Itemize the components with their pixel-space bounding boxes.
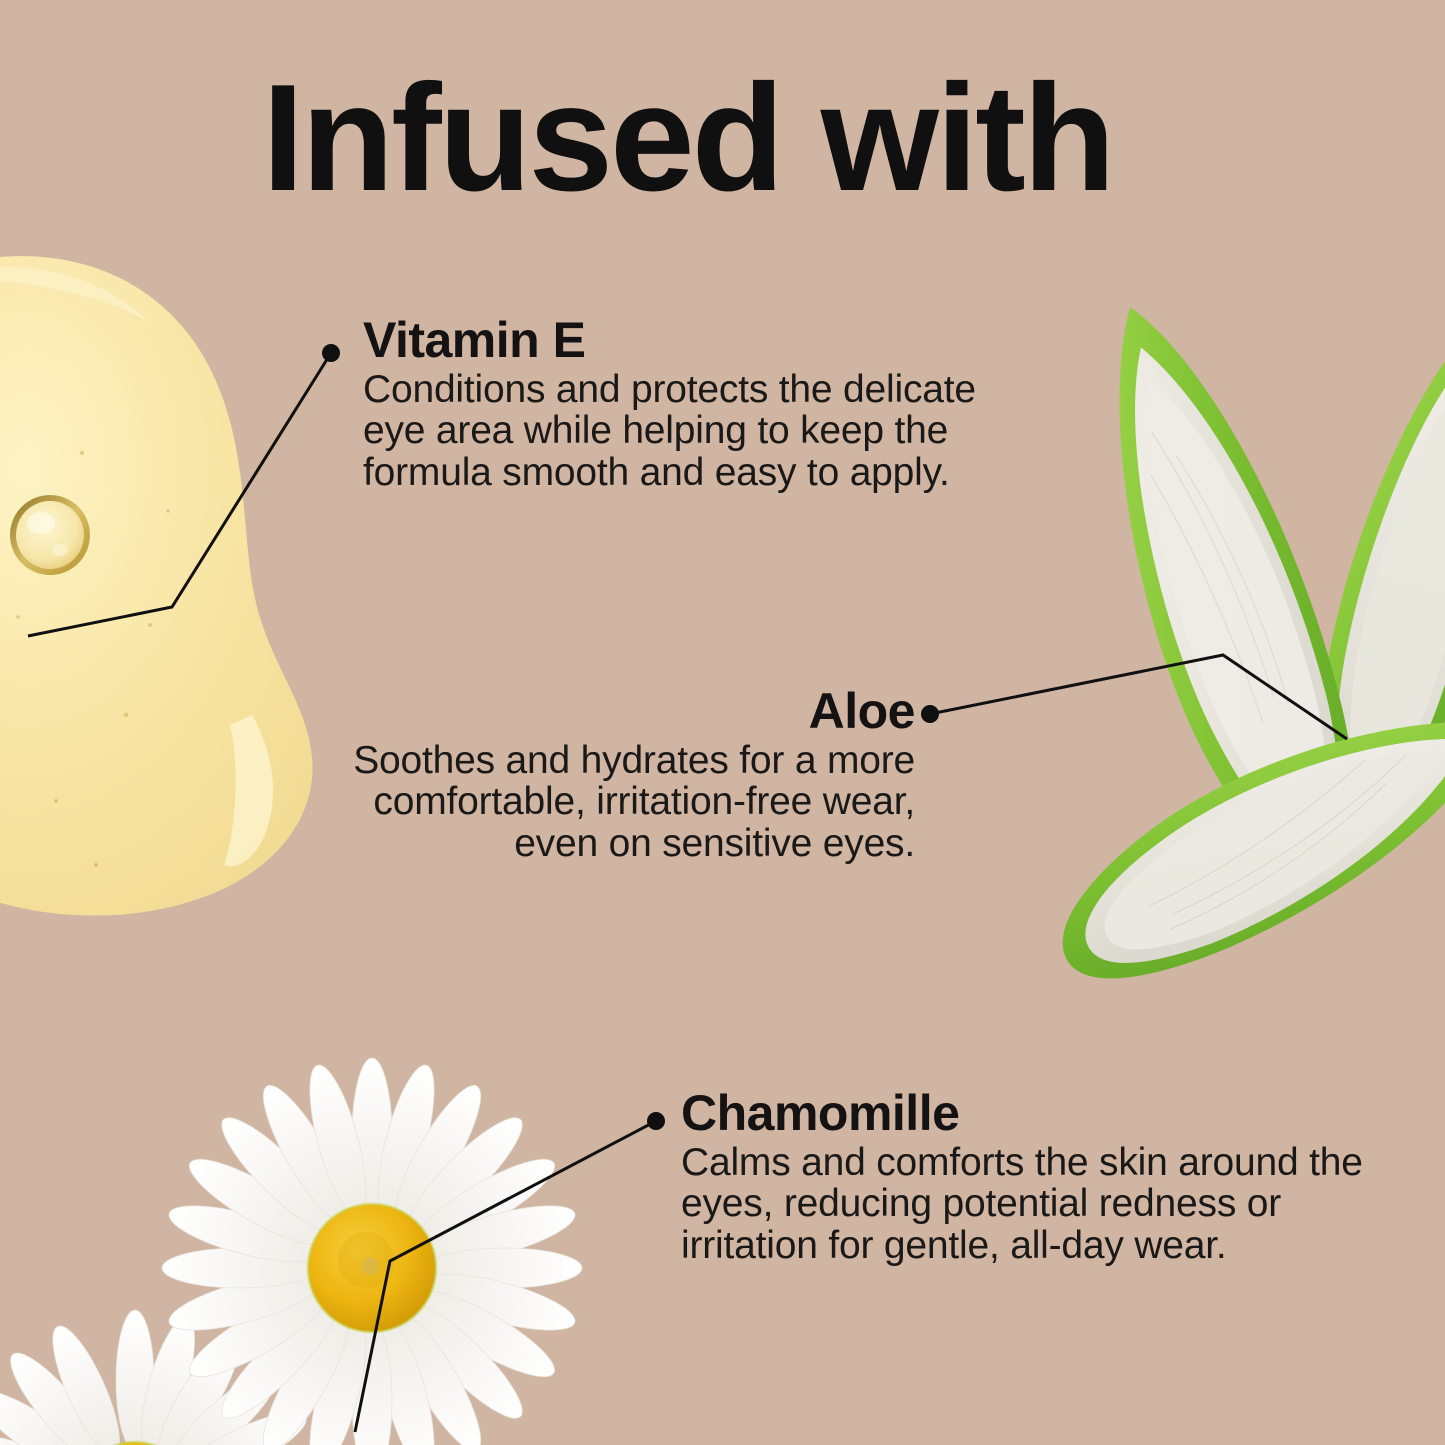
ingredient-block-chamomille: Chamomille Calms and comforts the skin a…	[681, 1086, 1371, 1266]
infographic-canvas: Infused with Vitamin E Conditions and pr…	[0, 0, 1445, 1445]
ingredient-description-vitamin-e: Conditions and protects the delicate eye…	[363, 369, 1043, 493]
ingredient-name-chamomille: Chamomille	[681, 1086, 1371, 1140]
leader-line-aloe	[930, 655, 1347, 739]
page-title: Infused with	[262, 62, 1113, 214]
leader-line-chamomille	[355, 1121, 656, 1432]
ingredient-description-chamomille: Calms and comforts the skin around the e…	[681, 1142, 1371, 1266]
ingredient-name-vitamin-e: Vitamin E	[363, 313, 1043, 367]
ingredient-block-vitamin-e: Vitamin E Conditions and protects the de…	[363, 313, 1043, 493]
ingredient-description-aloe: Soothes and hydrates for a more comforta…	[290, 740, 915, 864]
marker-dot-aloe	[921, 705, 939, 723]
marker-dot-chamomille	[647, 1112, 665, 1130]
ingredient-name-aloe: Aloe	[290, 684, 915, 738]
ingredient-block-aloe: Aloe Soothes and hydrates for a more com…	[290, 684, 915, 864]
leader-line-vitamin-e	[28, 353, 331, 636]
marker-dot-vitamin-e	[322, 344, 340, 362]
